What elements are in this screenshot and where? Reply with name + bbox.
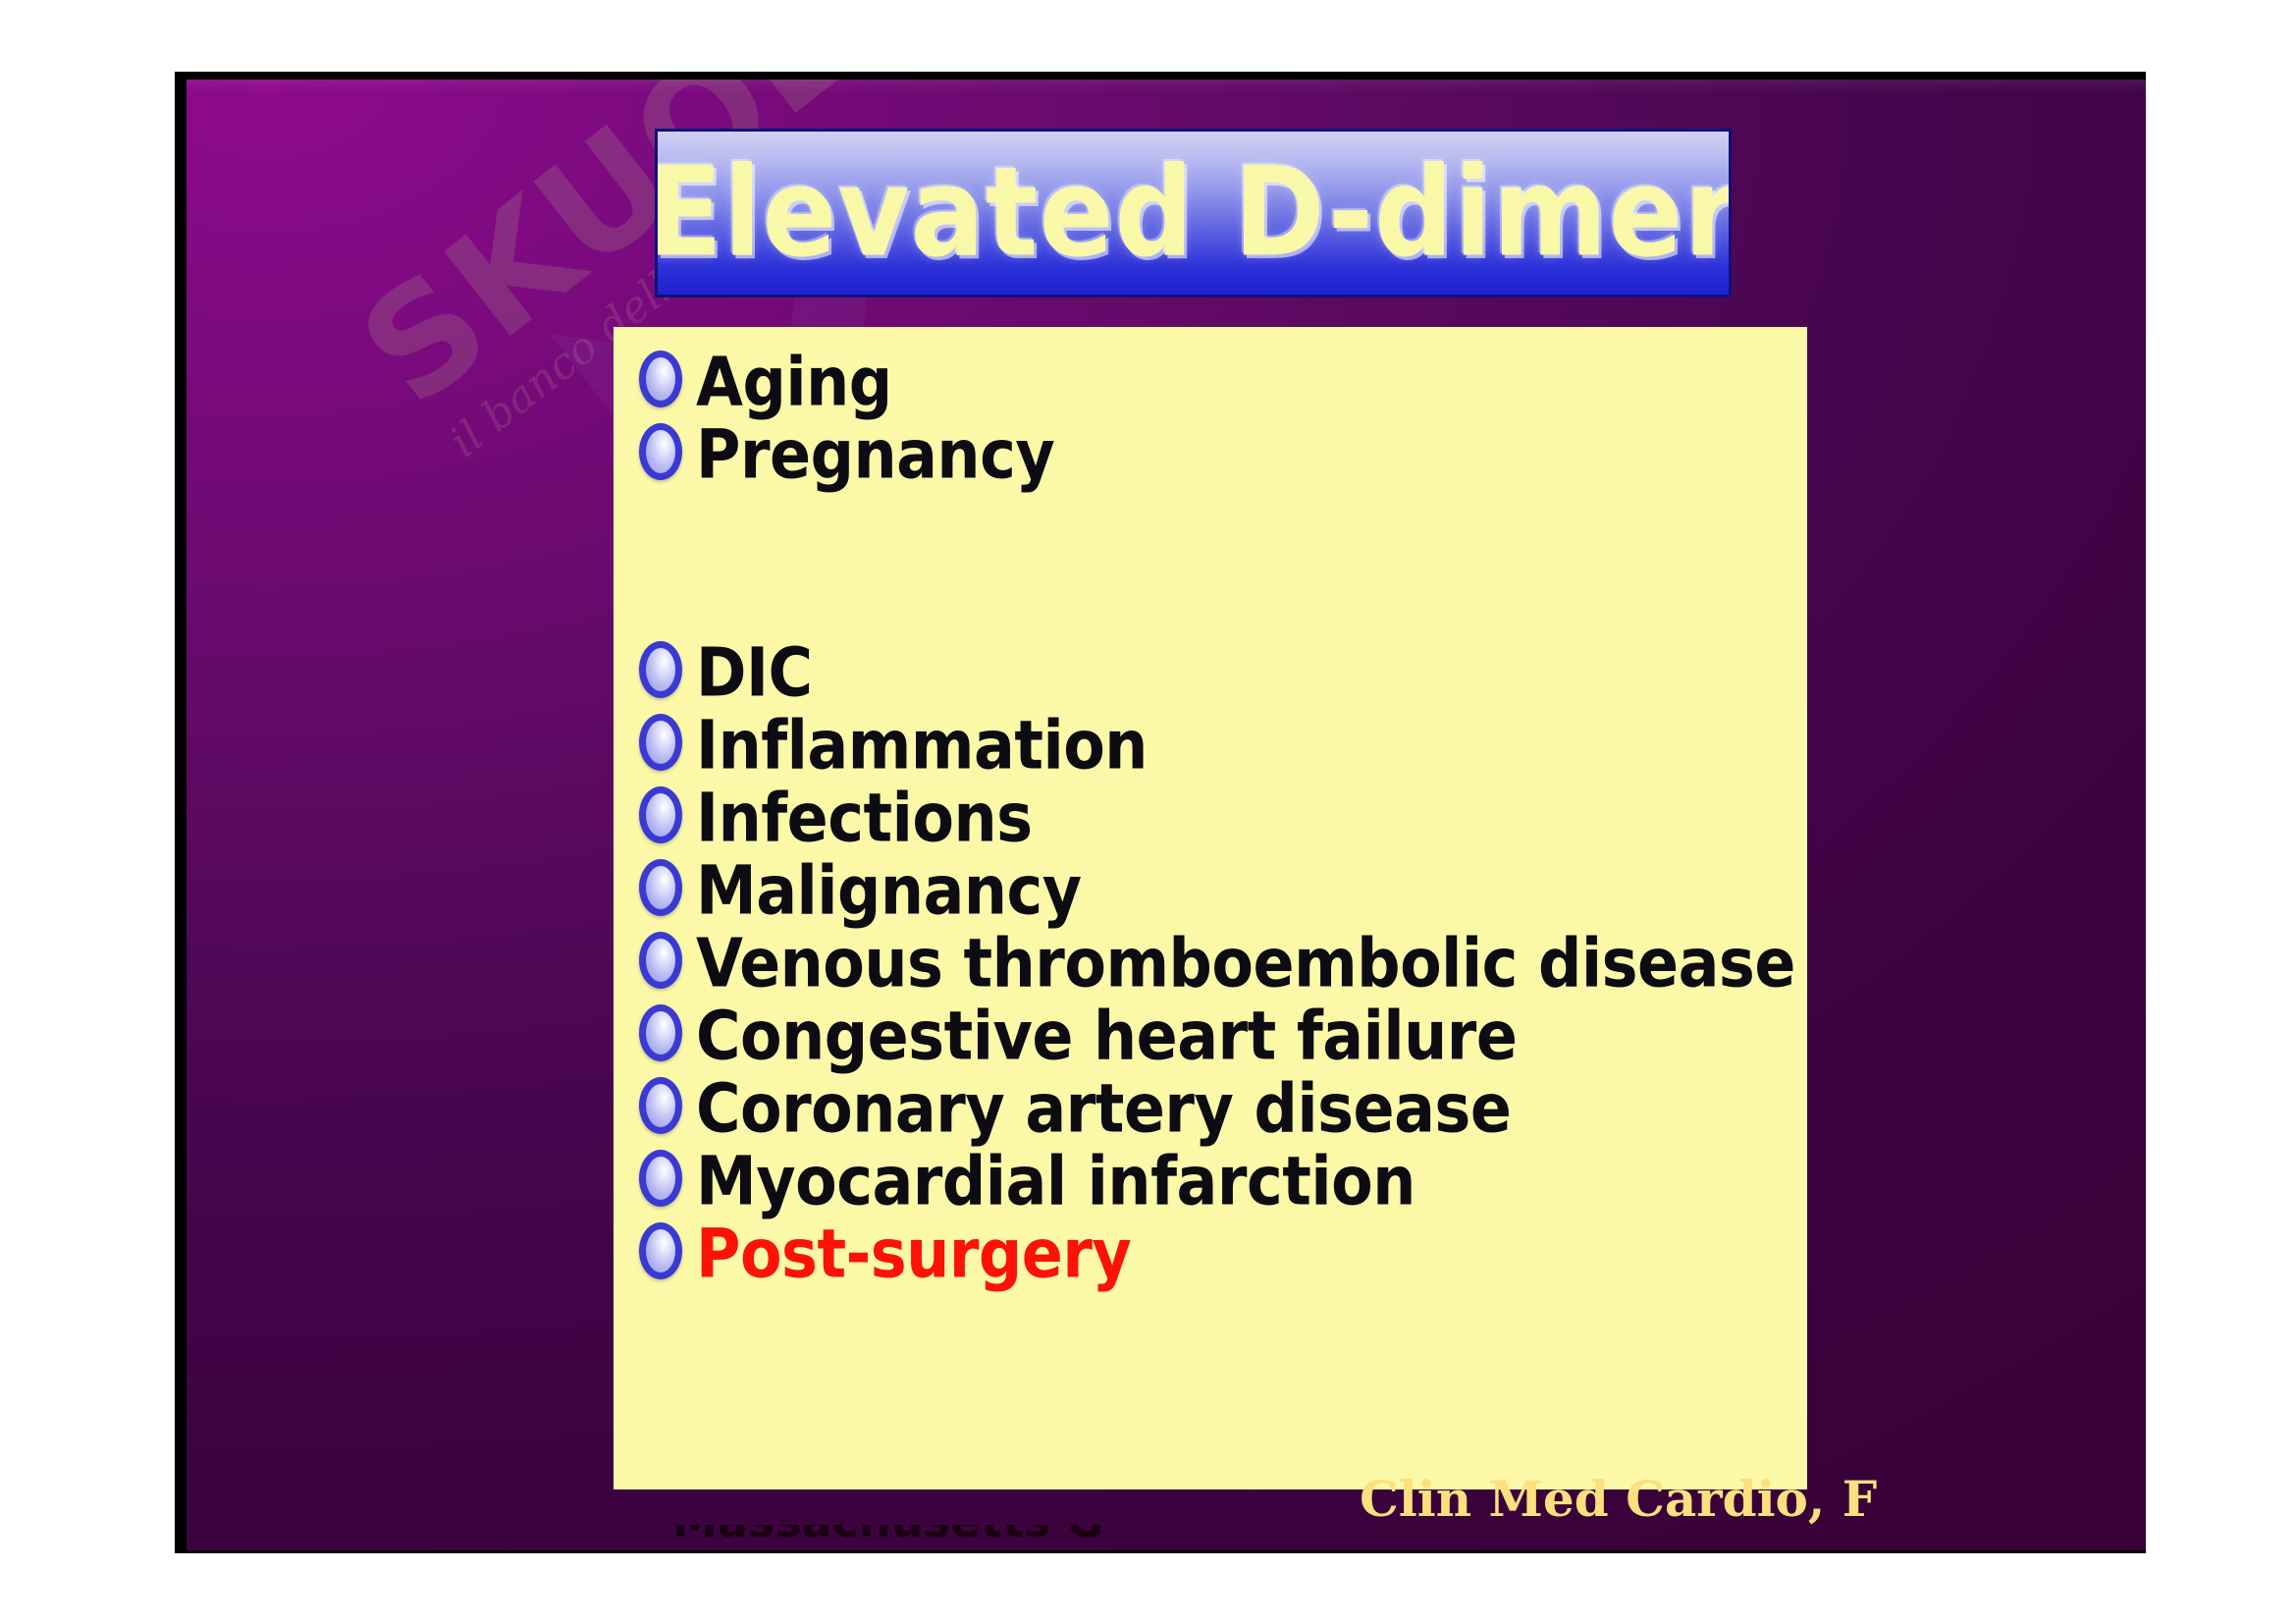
content-panel: Aging Pregnancy — [614, 327, 1807, 1489]
bullet-circle-icon — [639, 1077, 682, 1134]
bullet-circle-icon — [639, 1004, 682, 1061]
list-item: Coronary artery disease — [623, 1071, 1807, 1144]
list-item: Infections — [623, 781, 1807, 853]
bullet-circle-icon — [639, 714, 682, 771]
bullet-label: Pregnancy — [696, 417, 1054, 493]
bullet-label: Malignancy — [696, 853, 1082, 929]
list-item: Congestive heart failure — [623, 999, 1807, 1071]
slide-title-box: Elevated D-dimer — [655, 129, 1732, 298]
list-item: DIC — [623, 635, 1807, 708]
list-item: Aging — [623, 345, 1807, 417]
clipped-bottom-text: Massachusetts G — [672, 1525, 1124, 1550]
slide-title: Elevated D-dimer — [655, 151, 1732, 274]
bullet-label: Infections — [696, 781, 1033, 856]
presentation-slide: SKUOLA il banco delle Elevated D-dimer A… — [187, 80, 2146, 1550]
bullet-circle-icon — [639, 423, 682, 480]
bullet-label: Venous thromboembolic disease — [696, 926, 1795, 1001]
clipped-bottom-text-value: Massachusetts G — [672, 1525, 1124, 1546]
bullet-circle-icon — [639, 351, 682, 407]
bullet-label: Myocardial infarction — [696, 1144, 1415, 1219]
bullet-label: Congestive heart failure — [696, 999, 1517, 1074]
list-item-empty — [623, 490, 1807, 563]
bullet-label: DIC — [696, 635, 813, 711]
bullet-circle-icon — [639, 641, 682, 698]
list-item: Myocardial infarction — [623, 1144, 1807, 1217]
bullet-circle-icon — [639, 859, 682, 916]
list-item: Venous thromboembolic disease — [623, 926, 1807, 999]
list-item: Malignancy — [623, 853, 1807, 926]
list-item-empty — [623, 563, 1807, 635]
slide-top-sheen — [187, 80, 2146, 93]
bullet-circle-icon — [639, 1150, 682, 1207]
bullet-label: Post-surgery — [696, 1217, 1131, 1292]
list-item: Inflammation — [623, 708, 1807, 781]
bullet-circle-icon — [639, 786, 682, 843]
bullet-circle-icon — [639, 1222, 682, 1279]
bullet-list: Aging Pregnancy — [623, 345, 1807, 1289]
bullet-label: Inflammation — [696, 708, 1148, 784]
slide-frame: SKUOLA il banco delle Elevated D-dimer A… — [175, 72, 2146, 1553]
bullet-label: Aging — [696, 345, 892, 420]
source-credit: Clin Med Cardio, F — [1360, 1472, 1877, 1527]
list-item: Pregnancy — [623, 417, 1807, 490]
bullet-circle-icon — [639, 932, 682, 989]
bullet-label: Coronary artery disease — [696, 1071, 1511, 1147]
page-canvas: SKUOLA il banco delle Elevated D-dimer A… — [0, 0, 2296, 1623]
list-item: Post-surgery — [623, 1217, 1807, 1289]
